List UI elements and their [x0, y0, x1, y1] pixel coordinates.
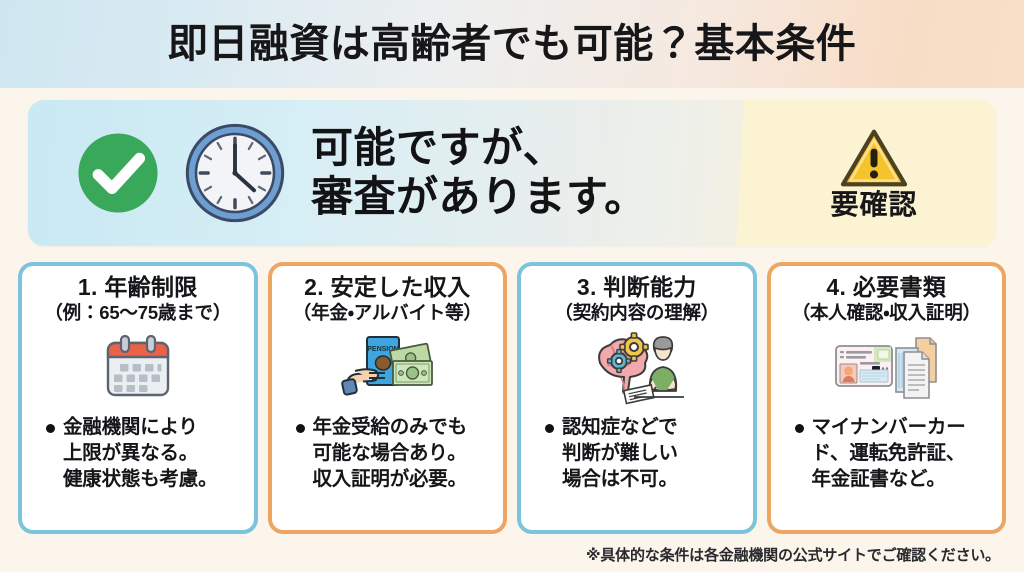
card-title: 3. 判断能力 — [577, 275, 697, 300]
warning-triangle-icon — [840, 127, 908, 189]
bullet-dot-icon — [795, 424, 804, 433]
banner-headline-line1: 可能ですが、 — [311, 124, 647, 173]
calendar-icon — [101, 331, 175, 405]
card-bullet: 年金受給のみでも 可能な場合あり。 収入証明が必要。 — [280, 414, 496, 492]
card-bullet: 金融機関により 上限が異なる。 健康状態も考慮。 — [30, 414, 246, 492]
warning-block: 要確認 — [752, 100, 996, 246]
clock-icon — [183, 121, 287, 225]
card-title: 1. 年齢制限 — [78, 275, 198, 300]
bullet-dot-icon — [46, 424, 55, 433]
card-stable-income: 2. 安定した収入 （年金・アルバイト等） PENSION — [268, 262, 508, 534]
card-judgment-capacity: 3. 判断能力 （契約内容の理解） — [517, 262, 757, 534]
card-title: 2. 安定した収入 — [304, 275, 470, 300]
id-card-and-documents-icon — [834, 332, 938, 404]
banner-headline-line2: 審査があります。 — [311, 173, 647, 222]
card-bullet-text: 認知症などで 判断が難しい 場合は不可。 — [562, 414, 678, 492]
card-age-limit: 1. 年齢制限 （例：65〜75歳まで） — [18, 262, 258, 534]
card-bullet-text: 金融機関により 上限が異なる。 健康状態も考慮。 — [63, 414, 217, 492]
bullet-dot-icon — [296, 424, 305, 433]
summary-banner: 可能ですが、 審査があります。 要確認 — [28, 100, 996, 246]
card-subtitle: （例：65〜75歳まで） — [44, 303, 231, 323]
card-icon-row — [590, 330, 684, 406]
header-banner: 即日融資は高齢者でも可能？基本条件 — [0, 0, 1024, 88]
card-bullet: マイナンバーカー ド、運転免許証、 年金証書など。 — [779, 414, 995, 492]
card-subtitle: （本人確認・収入証明） — [792, 303, 981, 323]
bullet-dot-icon — [545, 424, 554, 433]
card-subtitle: （年金・アルバイト等） — [293, 303, 482, 323]
card-bullet-text: 年金受給のみでも 可能な場合あり。 収入証明が必要。 — [313, 414, 467, 492]
green-check-circle-icon — [75, 130, 161, 216]
card-icon-row — [101, 330, 175, 406]
infographic-root: 即日融資は高齢者でも可能？基本条件 — [0, 0, 1024, 572]
brain-gears-and-writing-person-icon — [590, 331, 684, 405]
card-title: 4. 必要書類 — [826, 275, 946, 300]
card-required-documents: 4. 必要書類 （本人確認・収入証明） — [767, 262, 1007, 534]
card-subtitle: （契約内容の理解） — [554, 303, 719, 323]
page-title: 即日融資は高齢者でも可能？基本条件 — [168, 24, 857, 64]
footer-disclaimer: ※具体的な条件は各金融機関の公式サイトでご確認ください。 — [586, 544, 1000, 565]
condition-cards: 1. 年齢制限 （例：65〜75歳まで） — [18, 262, 1006, 534]
card-icon-row — [834, 330, 938, 406]
card-icon-row: PENSION — [341, 330, 433, 406]
card-bullet-text: マイナンバーカー ド、運転免許証、 年金証書など。 — [812, 414, 966, 492]
warning-label: 要確認 — [830, 191, 917, 219]
pension-book-and-cash-icon: PENSION — [341, 331, 433, 405]
card-bullet: 認知症などで 判断が難しい 場合は不可。 — [529, 414, 745, 492]
banner-headline: 可能ですが、 審査があります。 — [311, 124, 647, 221]
